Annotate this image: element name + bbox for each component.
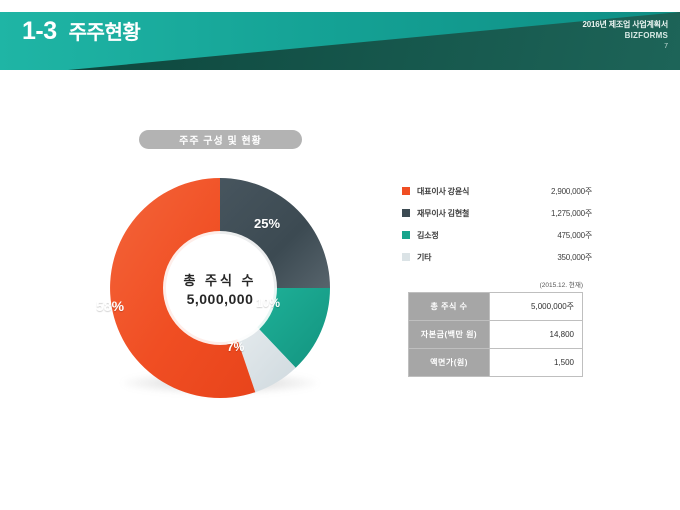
table-note: (2015.12. 현재) [402,279,583,289]
legend-item-label: 재무이사 김현철 [417,208,530,219]
legend-item: 재무이사 김현철 1,275,000주 [402,202,592,224]
donut-center-value: 5,000,000 [187,291,254,307]
table-row-label: 총 주식 수 [409,293,490,321]
legend-item-value: 2,900,000주 [530,186,592,197]
legend-item-label: 김소정 [417,230,530,241]
table-row-label: 액면가(원) [409,349,490,377]
legend-item-value: 350,000주 [530,252,592,263]
slide-title-text: 주주현황 [69,16,141,45]
table-row: 자본금(백만 원) 14,800 [409,321,583,349]
section-badge: 주주 구성 및 현황 [139,130,302,149]
slice-percent-teal: 10% [256,296,280,310]
slice-percent-orange: 58% [96,298,124,314]
table-row-value: 5,000,000주 [490,293,583,321]
document-title: 2016년 제조업 사업계획서 [583,20,668,31]
header-meta: 2016년 제조업 사업계획서 BIZFORMS 7 [583,20,668,51]
slice-percent-slate: 25% [254,216,280,231]
page-number: 7 [583,42,668,51]
slice-percent-gray: 7% [227,340,244,354]
table-row-value: 14,800 [490,321,583,349]
legend-swatch-icon [402,187,410,195]
legend-item-value: 475,000주 [530,230,592,241]
donut-center-label: 총 주식 수 [183,270,256,289]
legend-item: 기타 350,000주 [402,246,592,268]
legend-item-label: 기타 [417,252,530,263]
table-row: 액면가(원) 1,500 [409,349,583,377]
table-row-value: 1,500 [490,349,583,377]
table-row-label: 자본금(백만 원) [409,321,490,349]
shareholder-donut-chart: 총 주식 수 5,000,000 25% 10% 7% 58% [104,172,336,404]
legend-swatch-icon [402,209,410,217]
legend-swatch-icon [402,253,410,261]
stock-summary-table: 총 주식 수 5,000,000주 자본금(백만 원) 14,800 액면가(원… [408,292,583,377]
page-title: 1-3 주주현황 [22,16,140,46]
donut-center: 총 주식 수 5,000,000 [166,234,274,342]
legend-item-label: 대표이사 강윤식 [417,186,530,197]
legend-swatch-icon [402,231,410,239]
section-badge-label: 주주 구성 및 현황 [179,132,262,147]
legend-item: 대표이사 강윤식 2,900,000주 [402,180,592,202]
chart-legend: 대표이사 강윤식 2,900,000주 재무이사 김현철 1,275,000주 … [402,180,592,268]
table-row: 총 주식 수 5,000,000주 [409,293,583,321]
slide-number: 1-3 [22,17,57,46]
legend-item-value: 1,275,000주 [530,208,592,219]
brand-name: BIZFORMS [583,31,668,42]
legend-item: 김소정 475,000주 [402,224,592,246]
